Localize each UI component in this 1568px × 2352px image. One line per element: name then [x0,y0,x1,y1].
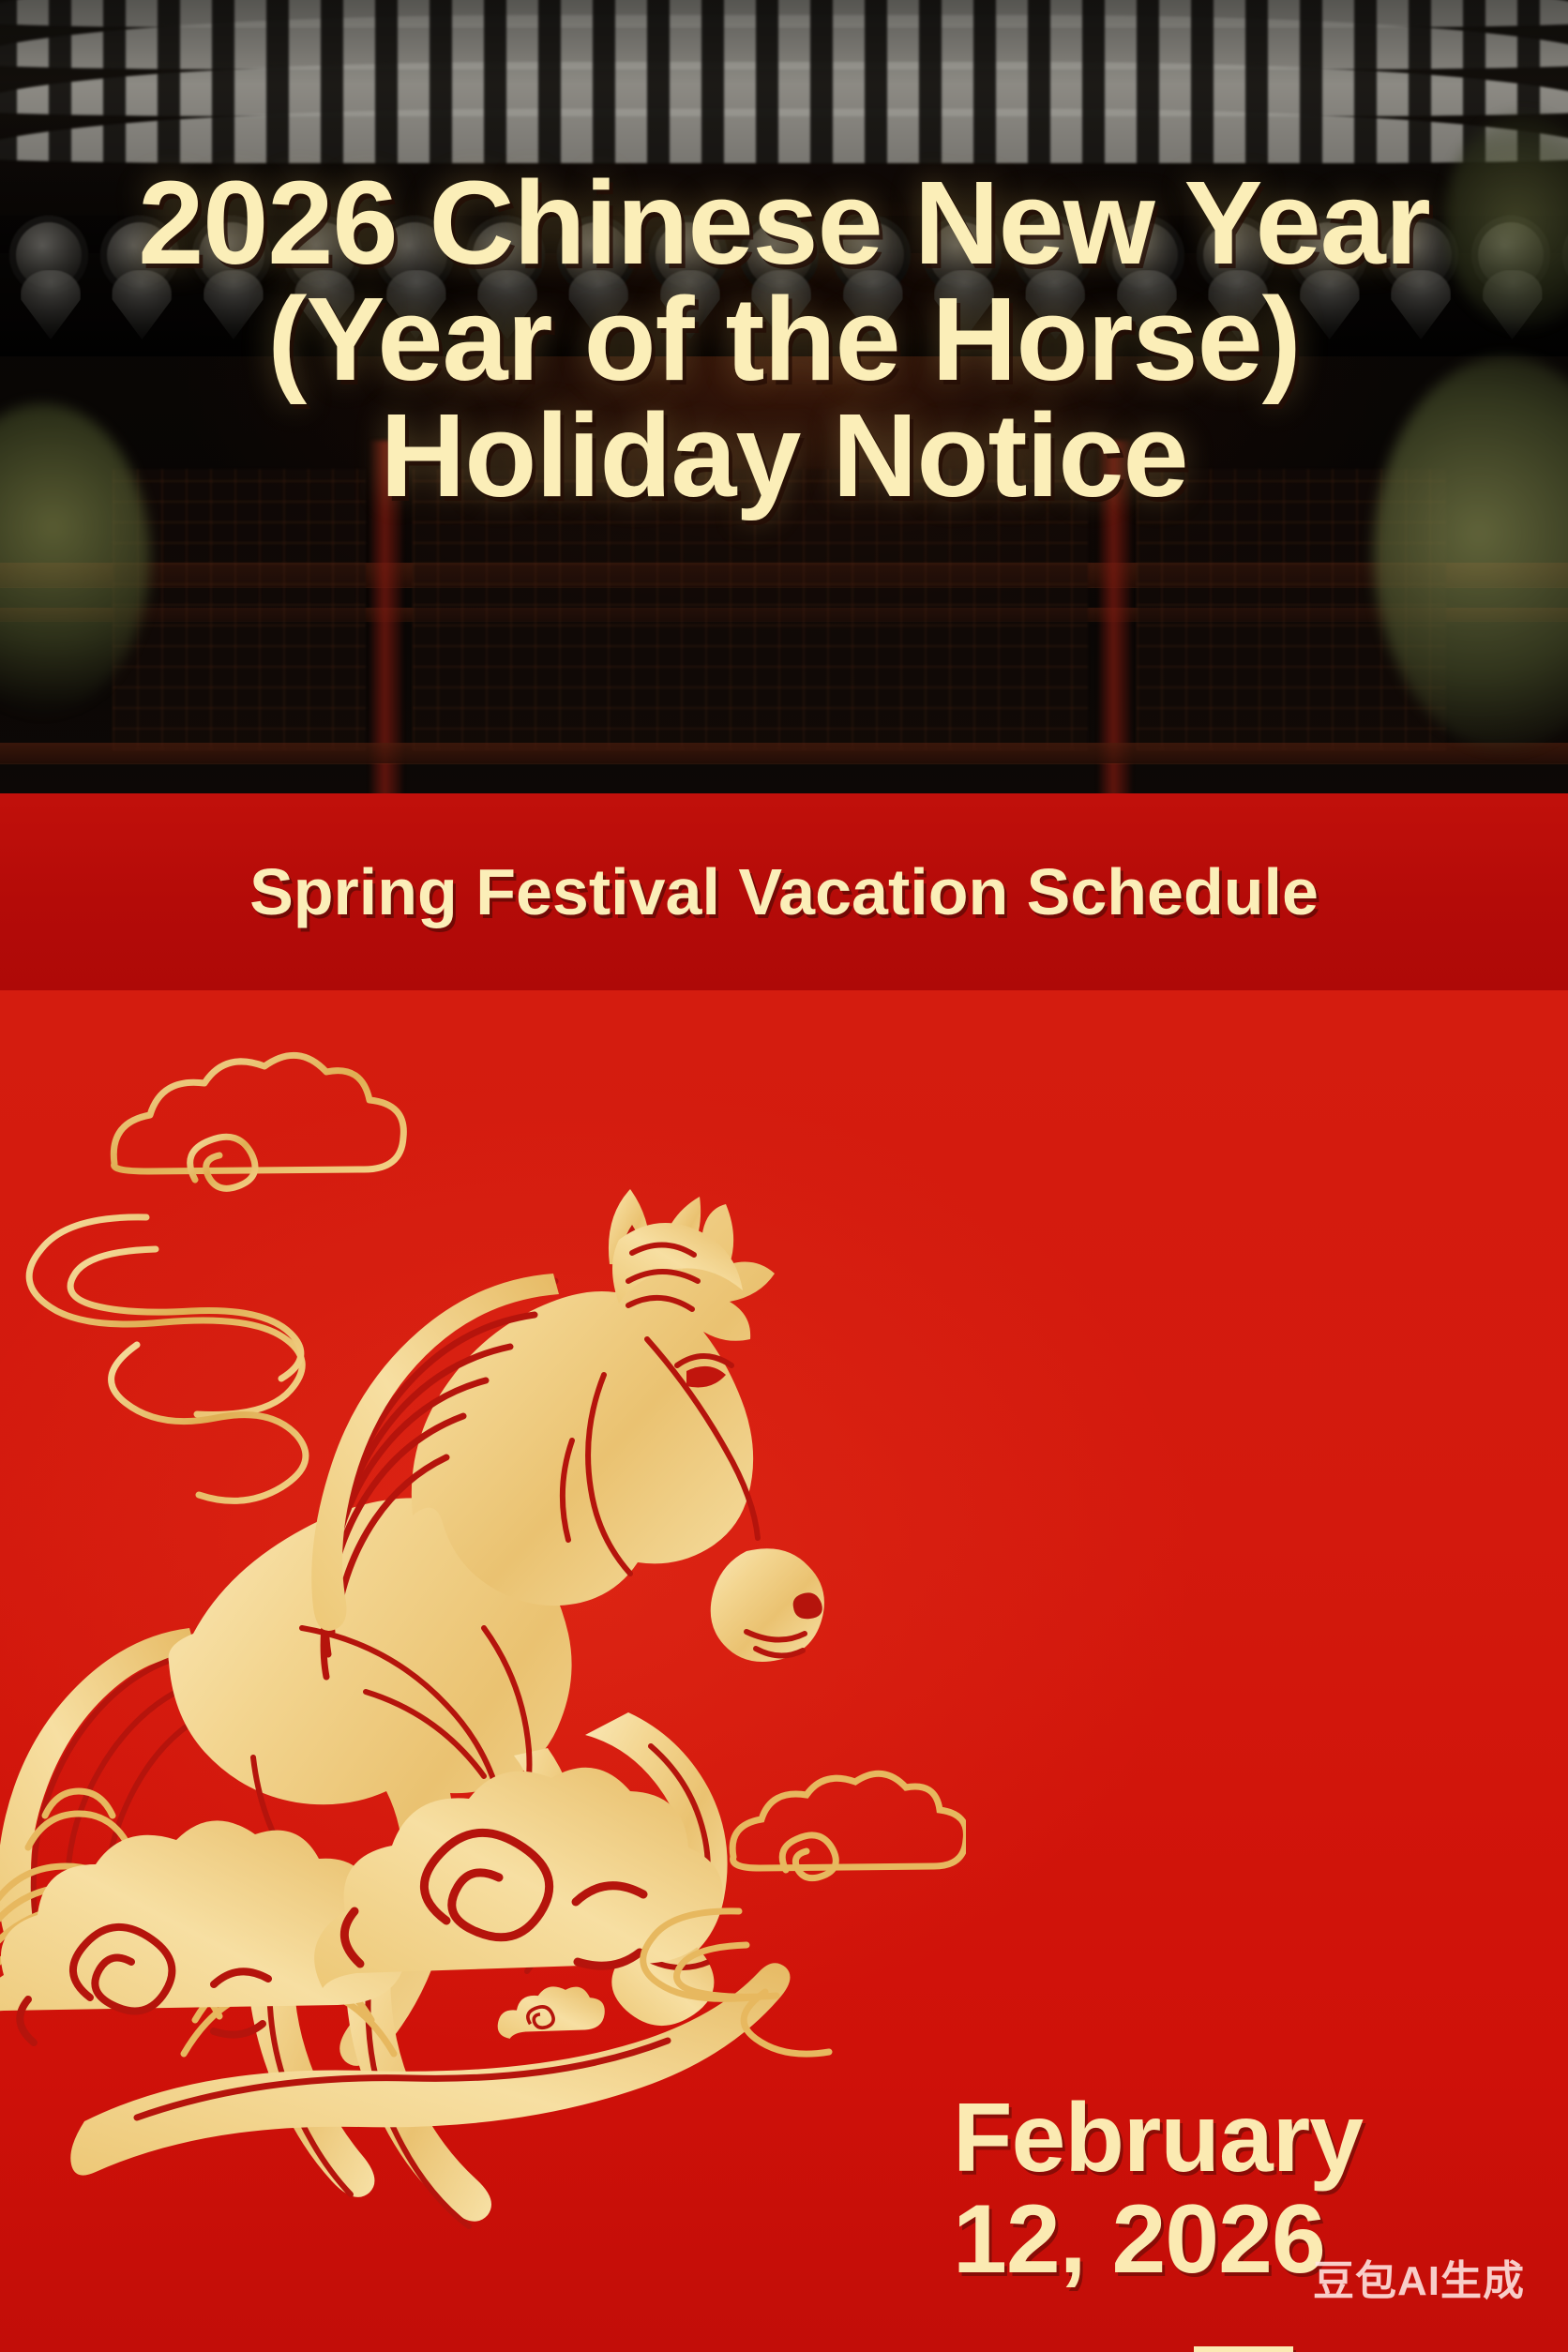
cloud-small-right [498,1986,605,2039]
title-line-2: (Year of the Horse) [23,281,1545,398]
subtitle-text: Spring Festival Vacation Schedule [249,858,1319,926]
poster-canvas: 2026 Chinese New Year (Year of the Horse… [0,0,1568,2352]
start-date-month: February [953,2088,1534,2189]
horse-and-clouds-artwork [0,990,966,2350]
subtitle-band: Spring Festival Vacation Schedule [0,793,1568,990]
wooden-lintel-lower [0,743,1568,763]
cloud-bank-bottom [0,1768,966,2176]
holiday-date-range: February 12, 2026 February 23, 2026 Wish… [953,2088,1534,2352]
main-red-stage: February 12, 2026 February 23, 2026 Wish… [0,990,1568,2352]
date-range-separator [1194,2346,1293,2352]
title-line-3: Holiday Notice [23,398,1545,514]
cloud-filled-center [314,1768,723,1988]
title-line-1: 2026 Chinese New Year [23,165,1545,281]
ai-generation-watermark: 豆包AI生成 [1313,2247,1525,2307]
poster-title: 2026 Chinese New Year (Year of the Horse… [0,165,1568,514]
golden-horse-illustration [0,1189,824,2226]
